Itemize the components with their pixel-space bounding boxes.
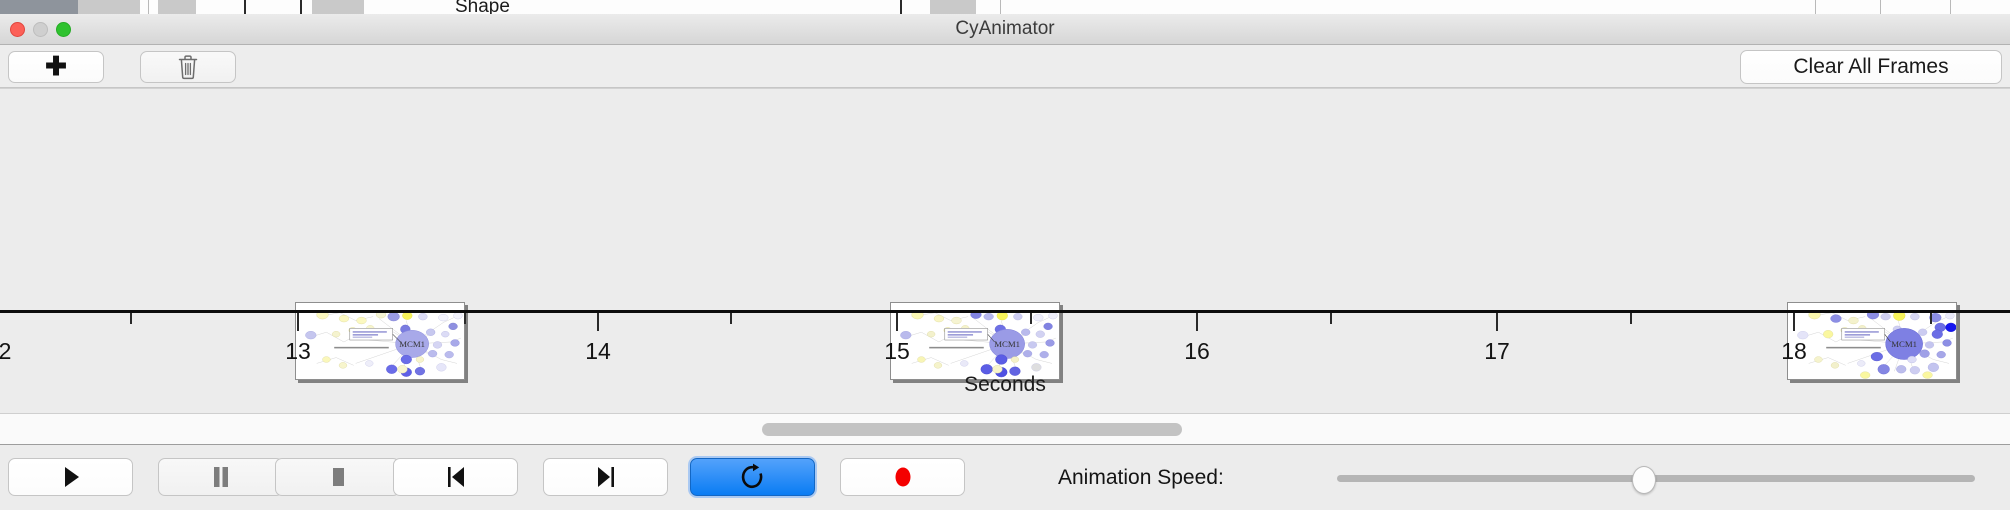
timeline-panel[interactable]: MCM1 (0, 88, 2010, 414)
maximize-button-icon[interactable] (56, 22, 71, 37)
playback-controls-bar: Animation Speed: (0, 445, 2010, 510)
timeline-axis-line (0, 310, 2010, 313)
axis-tick-label: 18 (1781, 338, 1807, 365)
background-mark (900, 0, 902, 14)
axis-tick-major (597, 313, 599, 331)
play-icon (60, 464, 82, 490)
background-divider (1950, 0, 1951, 14)
background-app-label: Shape (455, 0, 510, 14)
minimize-button-icon[interactable] (33, 22, 48, 37)
add-frame-button[interactable]: ✚ (8, 51, 104, 83)
title-bar[interactable]: CyAnimator (0, 14, 2010, 45)
background-mark (300, 0, 302, 14)
window-title: CyAnimator (0, 14, 2010, 44)
background-divider (148, 0, 149, 14)
axis-tick-minor (730, 313, 732, 324)
axis-title: Seconds (0, 373, 2010, 397)
axis-tick-major (1793, 313, 1795, 331)
axis-tick-minor (464, 313, 466, 324)
animation-speed-label: Animation Speed: (1058, 466, 1224, 490)
frame-thumbnail[interactable]: MCM1 (295, 302, 465, 380)
axis-tick-label: 15 (884, 338, 910, 365)
background-divider (1000, 0, 1001, 14)
pause-button[interactable] (158, 458, 283, 496)
background-chip (930, 0, 976, 14)
clear-all-frames-label: Clear All Frames (1793, 55, 1948, 79)
clear-all-frames-button[interactable]: Clear All Frames (1740, 50, 2002, 84)
delete-frame-button[interactable] (140, 51, 236, 83)
background-mark (244, 0, 246, 14)
axis-tick-label: 17 (1484, 338, 1510, 365)
plus-icon: ✚ (45, 53, 67, 79)
svg-text:MCM1: MCM1 (399, 339, 425, 349)
axis-tick-label: 13 (285, 338, 311, 365)
record-icon (892, 464, 914, 490)
stop-icon (327, 464, 349, 490)
background-window-strip: Shape (0, 0, 2010, 14)
axis-tick-major (1496, 313, 1498, 331)
axis-tick-minor (1930, 313, 1932, 324)
background-chip (78, 0, 140, 14)
pause-icon (210, 464, 232, 490)
network-thumbnail-image: MCM1 (296, 303, 464, 379)
axis-tick-major (297, 313, 299, 331)
svg-text:MCM1: MCM1 (994, 339, 1020, 349)
stop-button[interactable] (275, 458, 400, 496)
toolbar: ✚ Clear All Frames (0, 45, 2010, 88)
axis-tick-minor (130, 313, 132, 324)
background-toolbar-dark (0, 0, 78, 14)
loop-button[interactable] (690, 458, 815, 496)
background-chip (312, 0, 364, 14)
background-divider (1880, 0, 1881, 14)
axis-tick-label: 14 (585, 338, 611, 365)
trash-icon (177, 54, 199, 80)
animation-speed-slider-thumb[interactable] (1632, 466, 1656, 494)
loop-icon (740, 463, 766, 491)
axis-tick-major (1196, 313, 1198, 331)
axis-tick-label: 16 (1184, 338, 1210, 365)
axis-tick-major (896, 313, 898, 331)
close-button-icon[interactable] (10, 22, 25, 37)
background-divider (1815, 0, 1816, 14)
skip-backward-icon (444, 464, 468, 490)
record-button[interactable] (840, 458, 965, 496)
network-thumbnail-image: MCM1 (891, 303, 1059, 379)
skip-forward-icon (594, 464, 618, 490)
frame-thumbnail[interactable]: MCM1 (890, 302, 1060, 380)
window-controls (10, 22, 71, 37)
axis-tick-minor (1630, 313, 1632, 324)
background-chip (158, 0, 196, 14)
animation-speed-slider[interactable] (1337, 475, 1975, 482)
svg-text:MCM1: MCM1 (1891, 339, 1917, 349)
skip-end-button[interactable] (543, 458, 668, 496)
timeline-top-divider (0, 88, 2010, 89)
axis-tick-minor (1330, 313, 1332, 324)
play-button[interactable] (8, 458, 133, 496)
axis-tick-label: 2 (0, 338, 11, 365)
skip-start-button[interactable] (393, 458, 518, 496)
timeline-horizontal-scrollbar[interactable] (0, 414, 2010, 445)
axis-tick-minor (1030, 313, 1032, 324)
cyanimator-window: Shape CyAnimator ✚ Clear All Frame (0, 0, 2010, 510)
scrollbar-thumb[interactable] (762, 423, 1182, 436)
